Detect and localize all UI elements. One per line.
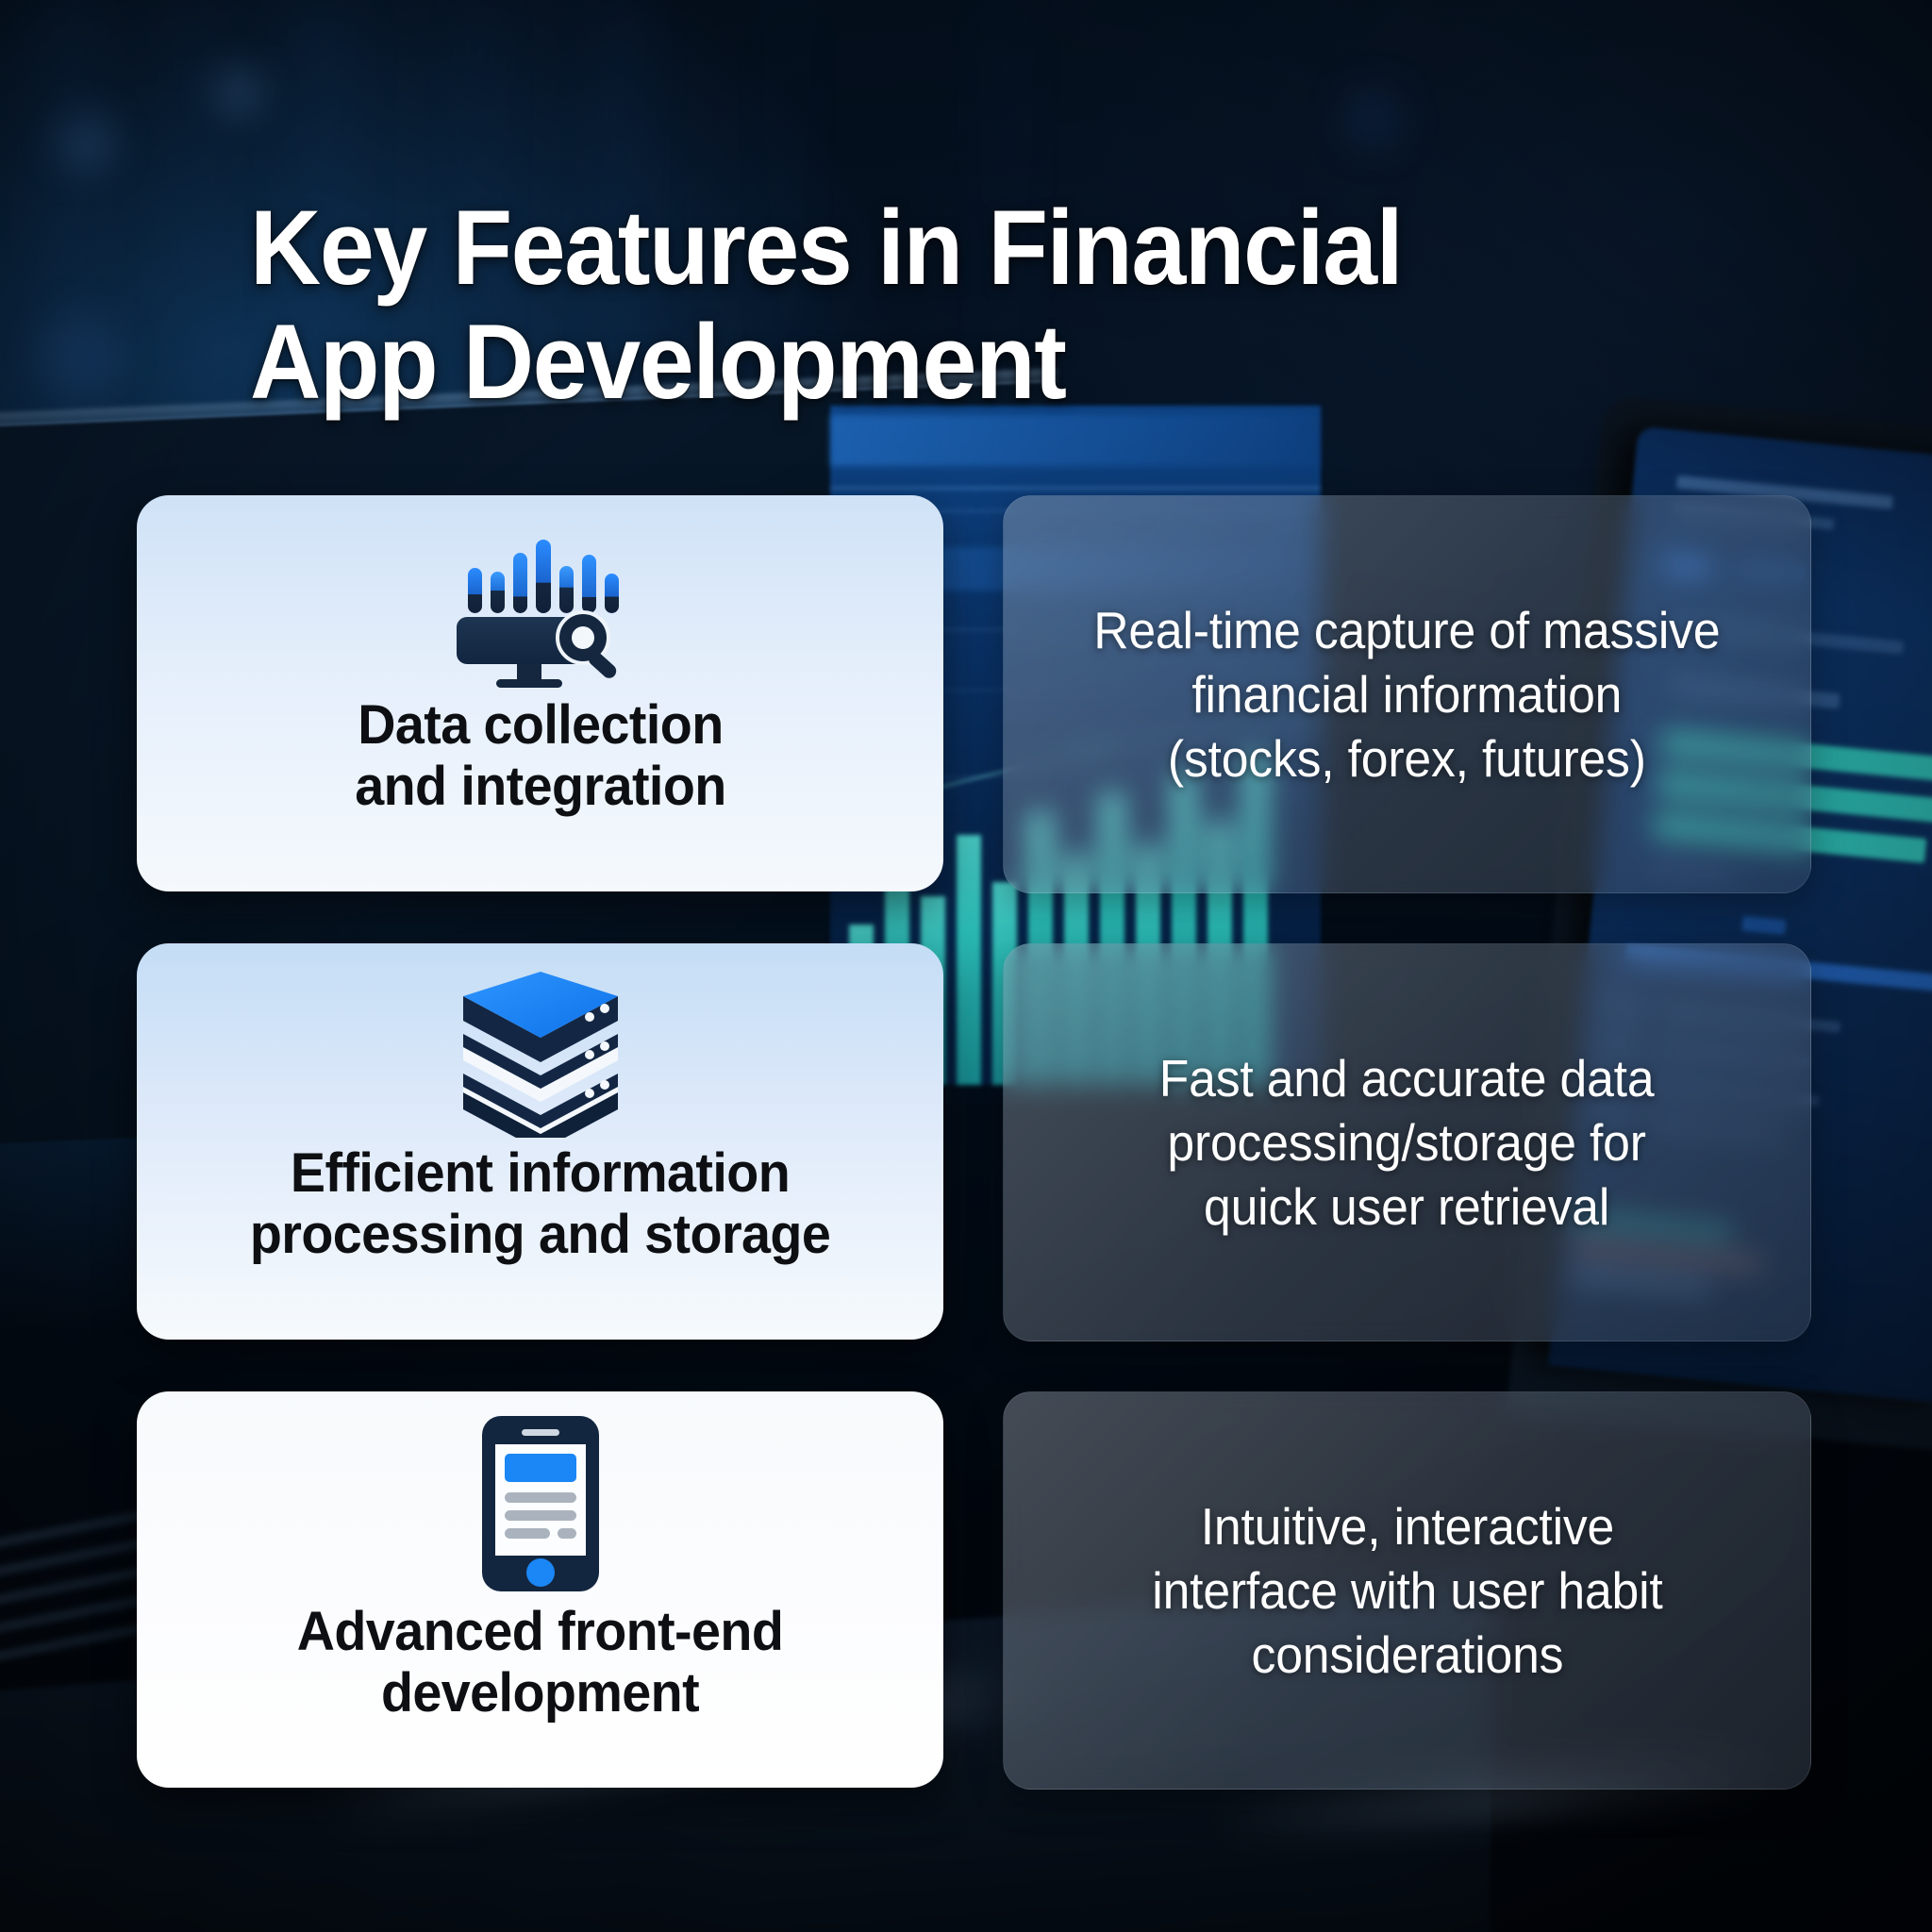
feature-row: Advanced front-end development Intuitive…	[0, 1391, 1932, 1788]
feature-card-label: Data collection and integration	[327, 695, 753, 818]
feature-description-panel: Real-time capture of massive financial i…	[1003, 495, 1811, 893]
database-stack-icon	[446, 968, 635, 1138]
feature-row: Data collection and integration Real-tim…	[0, 495, 1932, 891]
feature-description-panel: Fast and accurate data processing/storag…	[1003, 943, 1811, 1341]
feature-card-label: Advanced front-end development	[270, 1602, 810, 1724]
feature-description-text: Intuitive, interactive interface with us…	[1128, 1494, 1685, 1688]
feature-card-label: Efficient information processing and sto…	[223, 1143, 858, 1266]
feature-row: Efficient information processing and sto…	[0, 943, 1932, 1340]
infographic-content: Key Features in Financial App Developmen…	[0, 0, 1932, 1932]
feature-card-front-end[interactable]: Advanced front-end development	[137, 1391, 943, 1788]
infographic-canvas: Key Features in Financial App Developmen…	[0, 0, 1932, 1932]
feature-rows: Data collection and integration Real-tim…	[0, 0, 1932, 1932]
feature-description-panel: Intuitive, interactive interface with us…	[1003, 1391, 1811, 1790]
feature-description-text: Real-time capture of massive financial i…	[1071, 598, 1743, 791]
feature-card-processing-storage[interactable]: Efficient information processing and sto…	[137, 943, 943, 1340]
feature-description-text: Fast and accurate data processing/storag…	[1137, 1046, 1678, 1240]
smartphone-icon	[475, 1412, 607, 1596]
data-analytics-monitor-icon	[441, 520, 640, 690]
feature-card-data-collection[interactable]: Data collection and integration	[137, 495, 943, 891]
